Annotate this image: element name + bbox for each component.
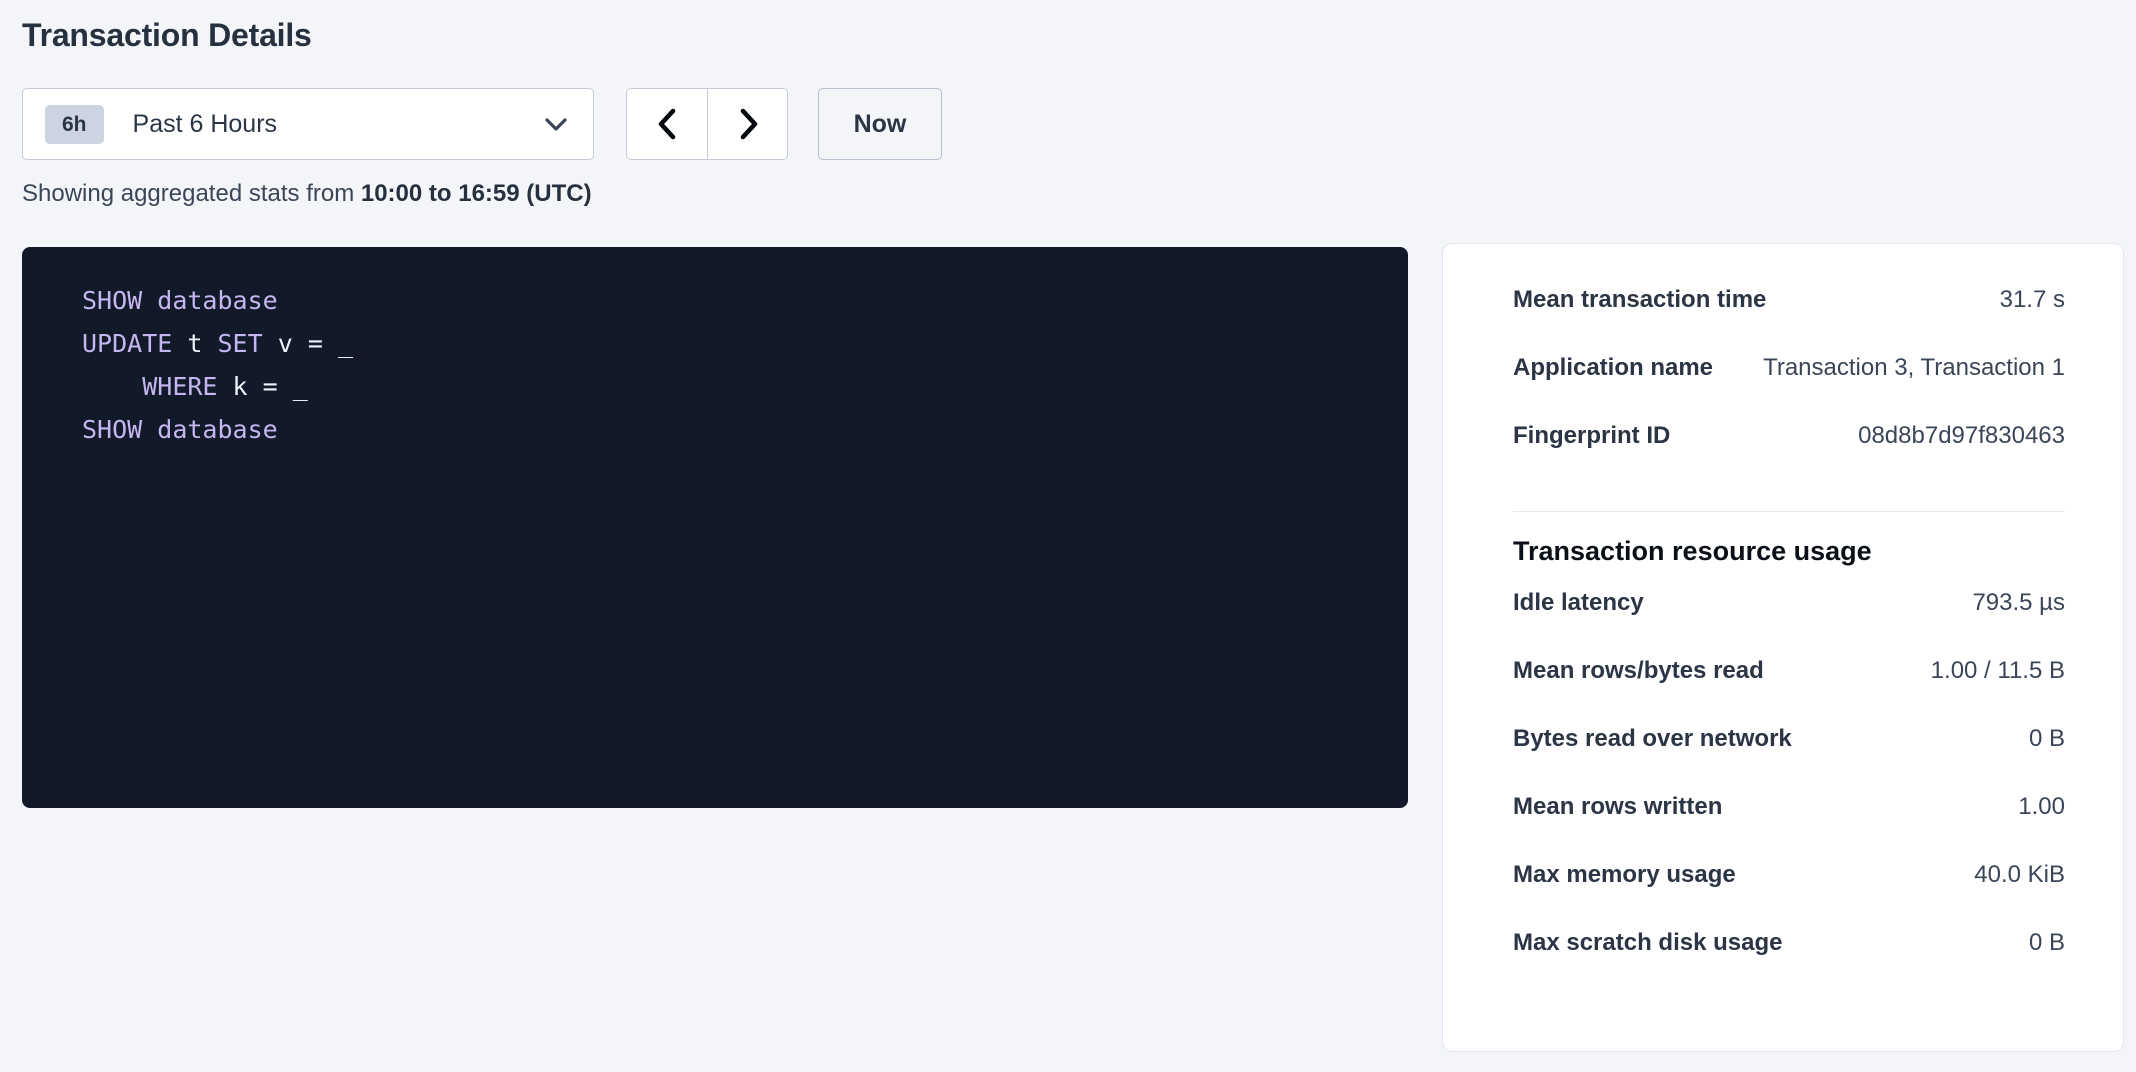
sql-code-line: UPDATE t SET v = _ (82, 322, 1408, 365)
detail-row: Idle latency793.5 µs (1513, 589, 2065, 657)
detail-row-key: Mean rows written (1513, 793, 1722, 821)
detail-row-key: Bytes read over network (1513, 725, 1792, 753)
aggregation-range-value: 10:00 to 16:59 (UTC) (361, 180, 592, 207)
transaction-detail-card: Mean transaction time31.7 sApplication n… (1442, 243, 2124, 1052)
aggregation-range-text: Showing aggregated stats from 10:00 to 1… (22, 180, 592, 208)
detail-row: Mean transaction time31.7 s (1513, 286, 2065, 354)
sql-token: UPDATE (82, 329, 172, 358)
detail-row: Max memory usage40.0 KiB (1513, 861, 2065, 929)
resource-usage-heading: Transaction resource usage (1513, 536, 2065, 567)
detail-row-value: 31.7 s (2000, 286, 2065, 314)
detail-row-value: 40.0 KiB (1974, 861, 2065, 889)
sql-token: SHOW (82, 286, 142, 315)
sql-token: WHERE (142, 372, 217, 401)
detail-row: Fingerprint ID08d8b7d97f830463 (1513, 422, 2065, 490)
sql-token (82, 372, 142, 401)
next-period-button[interactable] (707, 89, 787, 159)
detail-row-value: 0 B (2029, 725, 2065, 753)
now-button[interactable]: Now (818, 88, 942, 160)
summary-stats-list: Mean transaction time31.7 sApplication n… (1513, 286, 2065, 490)
card-divider (1513, 511, 2065, 512)
chevron-right-icon (735, 107, 761, 141)
sql-token: _ (338, 329, 353, 358)
sql-token: v (278, 329, 293, 358)
detail-row-value: 1.00 (2018, 793, 2065, 821)
sql-code-block[interactable]: SHOW databaseUPDATE t SET v = _ WHERE k … (22, 247, 1408, 808)
time-range-toolbar: 6h Past 6 Hours (22, 88, 942, 160)
sql-code-line: SHOW database (82, 408, 1408, 451)
sql-token (172, 329, 187, 358)
detail-row-key: Max scratch disk usage (1513, 929, 1782, 957)
time-nav-group (626, 88, 788, 160)
time-range-select[interactable]: 6h Past 6 Hours (22, 88, 594, 160)
sql-token (248, 372, 263, 401)
sql-code-lines: SHOW databaseUPDATE t SET v = _ WHERE k … (82, 279, 1408, 451)
detail-row-key: Mean rows/bytes read (1513, 657, 1764, 685)
sql-token (263, 329, 278, 358)
sql-token (202, 329, 217, 358)
sql-token: SHOW (82, 415, 142, 444)
previous-period-button[interactable] (627, 89, 707, 159)
sql-token: database (157, 415, 277, 444)
detail-row-key: Idle latency (1513, 589, 1644, 617)
detail-row-key: Mean transaction time (1513, 286, 1766, 314)
sql-token (142, 286, 157, 315)
sql-token (293, 329, 308, 358)
page-title: Transaction Details (22, 17, 312, 54)
time-range-badge: 6h (45, 105, 104, 144)
detail-row-value: 793.5 µs (1972, 589, 2065, 617)
detail-row: Mean rows/bytes read1.00 / 11.5 B (1513, 657, 2065, 725)
detail-row-value: 1.00 / 11.5 B (1931, 657, 2065, 685)
detail-row-key: Max memory usage (1513, 861, 1736, 889)
aggregation-range-prefix: Showing aggregated stats from (22, 180, 361, 207)
detail-row: Max scratch disk usage0 B (1513, 929, 2065, 997)
time-range-label: Past 6 Hours (133, 110, 545, 139)
detail-row-value: 08d8b7d97f830463 (1858, 422, 2065, 450)
detail-row: Mean rows written1.00 (1513, 793, 2065, 861)
detail-row: Application nameTransaction 3, Transacti… (1513, 354, 2065, 422)
sql-code-line: WHERE k = _ (82, 365, 1408, 408)
detail-row-value: 0 B (2029, 929, 2065, 957)
sql-token: _ (293, 372, 308, 401)
sql-token (278, 372, 293, 401)
sql-code-line: SHOW database (82, 279, 1408, 322)
sql-token: t (187, 329, 202, 358)
sql-token (323, 329, 338, 358)
sql-token (142, 415, 157, 444)
detail-row: Bytes read over network0 B (1513, 725, 2065, 793)
chevron-down-icon (545, 118, 567, 131)
resource-usage-list: Idle latency793.5 µsMean rows/bytes read… (1513, 589, 2065, 997)
detail-row-key: Application name (1513, 354, 1713, 382)
sql-token: = (308, 329, 323, 358)
detail-row-value: Transaction 3, Transaction 1 (1763, 354, 2065, 382)
detail-row-key: Fingerprint ID (1513, 422, 1670, 450)
sql-token: database (157, 286, 277, 315)
sql-token: k (233, 372, 248, 401)
sql-token (217, 372, 232, 401)
sql-token: SET (218, 329, 263, 358)
chevron-left-icon (654, 107, 680, 141)
sql-token: = (263, 372, 278, 401)
transaction-details-page: Transaction Details 6h Past 6 Hours (0, 0, 2136, 1072)
